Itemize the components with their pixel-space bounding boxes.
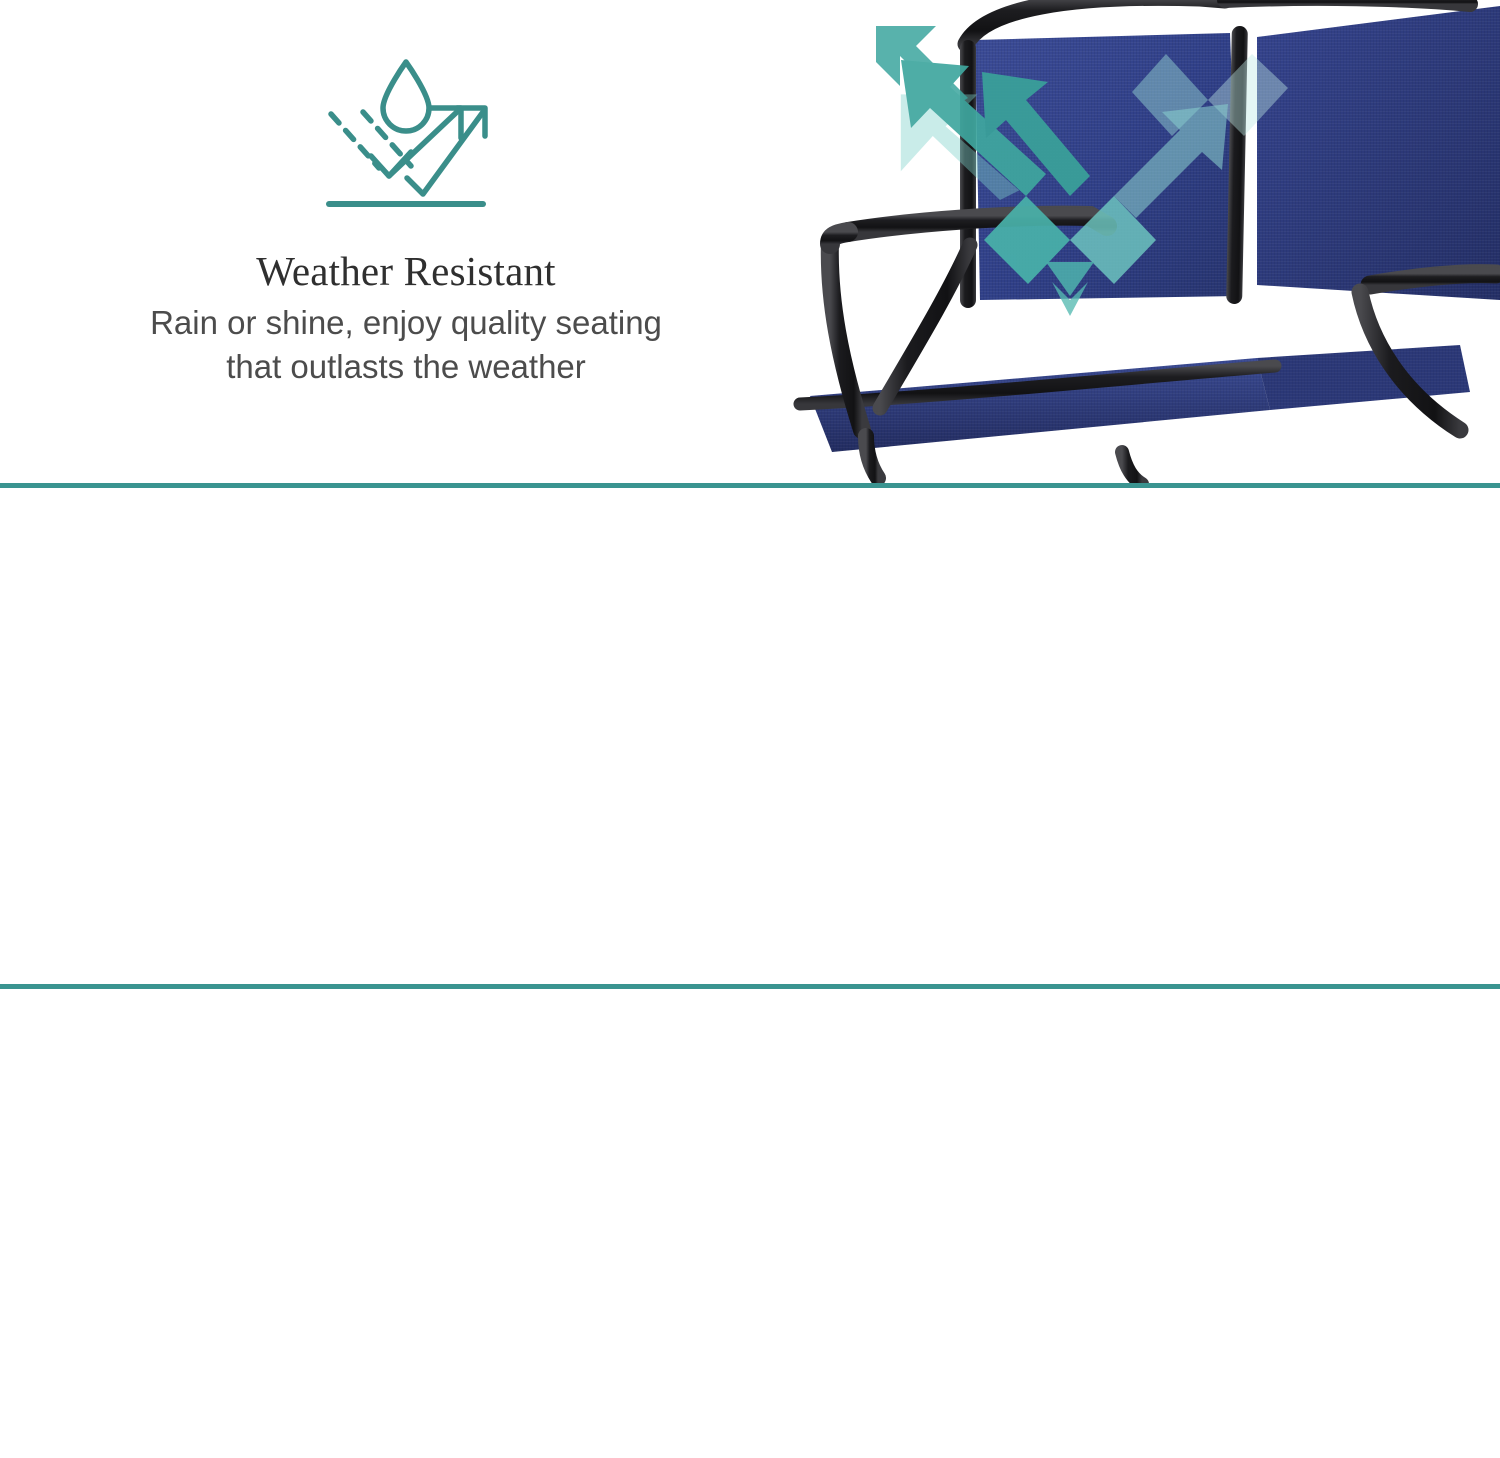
water-repellent-glyph xyxy=(311,56,501,216)
feature-row-weather: Weather Resistant Rain or shine, enjoy q… xyxy=(0,0,1500,485)
section-divider-top xyxy=(0,483,1500,488)
section-divider-bottom xyxy=(0,984,1500,989)
feature-body-line: that outlasts the weather xyxy=(0,345,812,389)
water-repellent-icon xyxy=(0,56,812,216)
feature-heading-weather: Weather Resistant xyxy=(0,248,812,295)
feature-text-weather: Weather Resistant Rain or shine, enjoy q… xyxy=(0,248,812,388)
infographic-page: Weather Resistant Rain or shine, enjoy q… xyxy=(0,0,1500,1458)
feature-body-weather: Rain or shine, enjoy quality seating tha… xyxy=(0,301,812,388)
feature-row-steel: Powder-Coated Steel Light coating preven… xyxy=(0,989,1500,1458)
glider-chair-illustration xyxy=(770,0,1500,485)
feature-body-line: Rain or shine, enjoy quality seating xyxy=(0,301,812,345)
loveseat-glider-photo xyxy=(770,0,1500,485)
feature-row-mesh: Textilene Mesh UV-, water-, and oil-resi… xyxy=(0,489,1500,985)
